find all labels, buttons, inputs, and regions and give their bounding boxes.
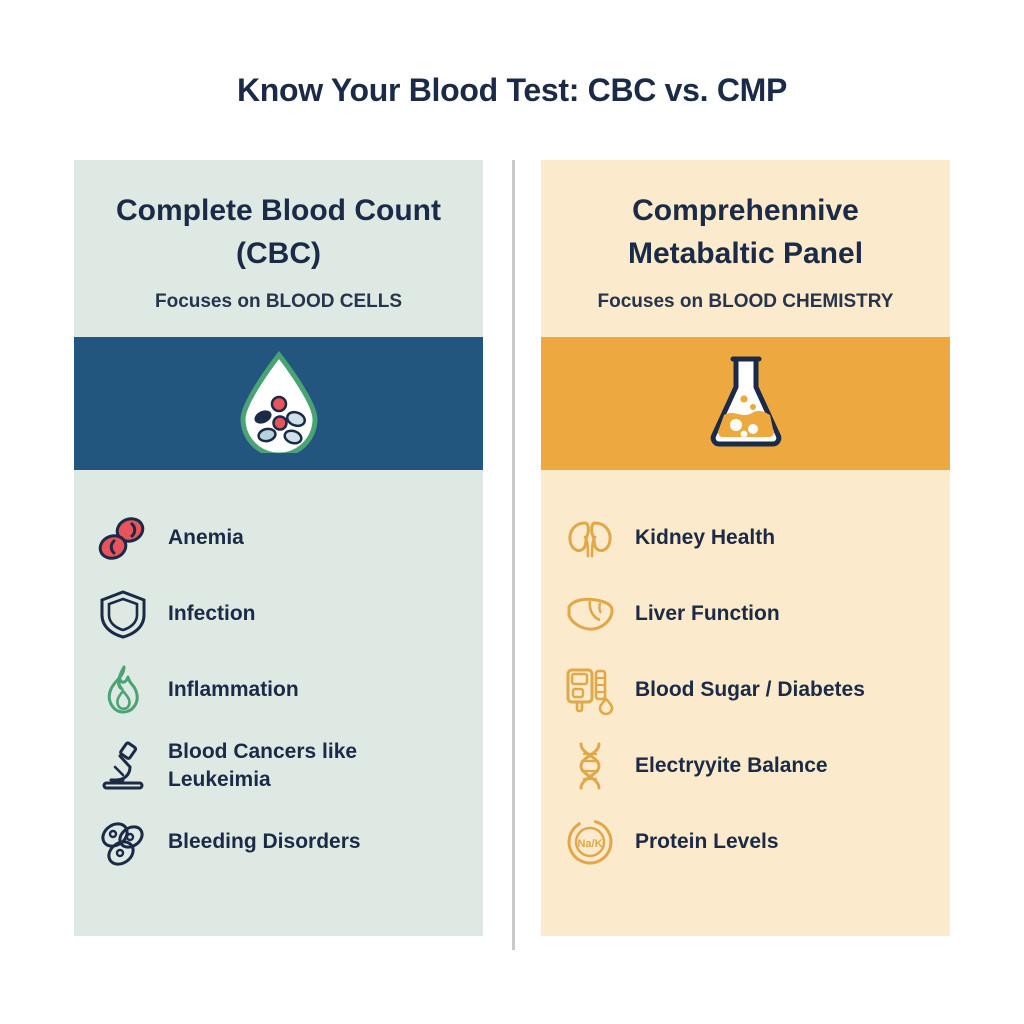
panel-cmp-subtitle: Focuses on BLOOD CHEMISTRY [541,291,950,313]
list-item-label: Liver Function [635,600,780,628]
na-k-icon-text: Na/K [577,838,602,850]
panel-cbc-header: Complete Blood Count (CBC) Focuses on BL… [74,160,483,313]
panel-divider [512,160,515,950]
list-item-label: Infection [168,600,256,628]
list-item-label: Bleeding Disorders [168,828,361,856]
flask-icon [700,349,792,458]
list-item-label: Blood Cancers like Leukeimia [168,738,398,795]
panel-cmp-list: Kidney Health Liver Function [541,500,950,880]
list-item-label: Blood Sugar / Diabetes [635,676,865,704]
flame-icon [96,663,150,717]
comparison-columns: Complete Blood Count (CBC) Focuses on BL… [74,160,950,936]
list-item[interactable]: Infection [96,576,461,652]
list-item[interactable]: Kidney Health [563,500,928,576]
panel-cbc-banner [74,337,483,470]
red-blood-cells-icon [96,511,150,565]
list-item-label: Anemia [168,524,244,552]
list-item[interactable]: Anemia [96,500,461,576]
panel-cmp-header: Comprehennive Metabaltic Panel Focuses o… [541,160,950,313]
list-item-label: Protein Levels [635,828,779,856]
kidneys-icon [563,511,617,565]
list-item-label: Electryyite Balance [635,752,828,780]
glucometer-icon [563,663,617,717]
list-item[interactable]: Blood Sugar / Diabetes [563,652,928,728]
list-item[interactable]: Bleeding Disorders [96,804,461,880]
list-item[interactable]: Liver Function [563,576,928,652]
panel-cbc-subtitle: Focuses on BLOOD CELLS [74,291,483,313]
microscope-icon [96,739,150,793]
panel-cbc-title: Complete Blood Count (CBC) [74,190,483,275]
list-item-label: Kidney Health [635,524,775,552]
platelets-icon [96,815,150,869]
list-item-label: Inflammation [168,676,299,704]
panel-cbc-list: Anemia Infection [74,500,483,880]
list-item[interactable]: Electryyite Balance [563,728,928,804]
panel-cmp-title: Comprehennive Metabaltic Panel [541,190,950,275]
blood-drop-icon [236,349,322,458]
panel-cbc: Complete Blood Count (CBC) Focuses on BL… [74,160,483,936]
panel-cmp: Comprehennive Metabaltic Panel Focuses o… [541,160,950,936]
page-title: Know Your Blood Test: CBC vs. CMP [0,72,1024,109]
list-item[interactable]: Na/K Protein Levels [563,804,928,880]
shield-icon [96,587,150,641]
infographic-page: Know Your Blood Test: CBC vs. CMP Comple… [0,0,1024,1024]
list-item[interactable]: Blood Cancers like Leukeimia [96,728,461,804]
na-k-circle-icon: Na/K [563,815,617,869]
panel-cmp-banner [541,337,950,470]
dna-helix-icon [563,739,617,793]
list-item[interactable]: Inflammation [96,652,461,728]
liver-icon [563,587,617,641]
